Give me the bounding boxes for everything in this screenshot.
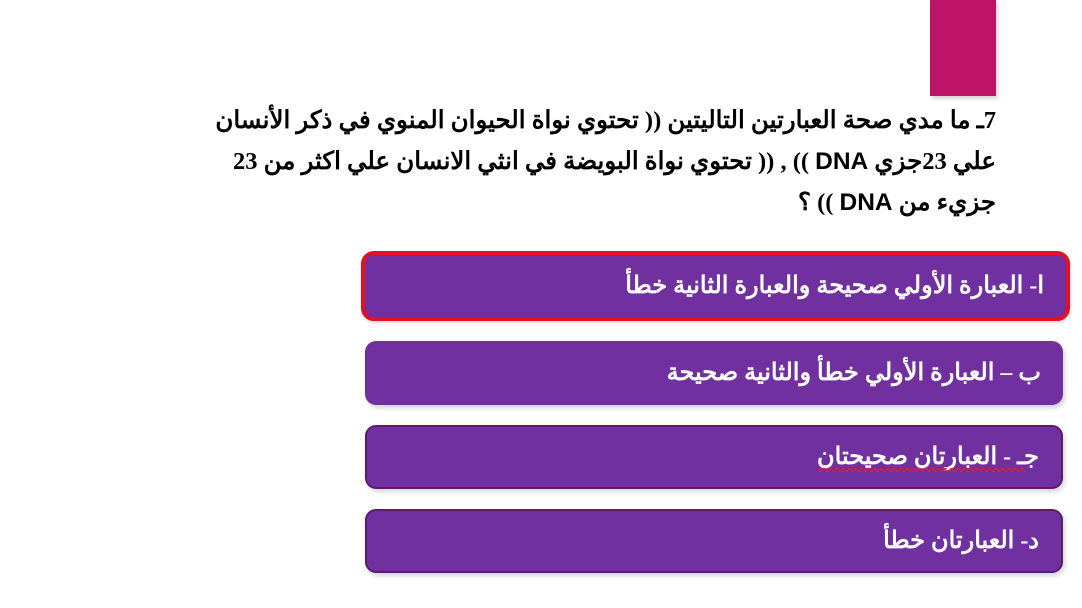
answer-option-b-label: ب – العبارة الأولي خطأ والثانية صحيحة <box>667 360 1041 386</box>
magenta-accent-block <box>930 0 996 96</box>
question-line-3-leading: جزيء من <box>899 189 996 216</box>
question-line-1: 7ـ ما مدي صحة العبارتين التاليتين (( تحت… <box>215 107 996 134</box>
answer-option-c-label: جـ - العبارتان صحيحتان <box>817 444 1039 470</box>
answer-option-d[interactable]: د- العبارتان خطأ <box>365 509 1063 573</box>
question-line-2-leading: علي 23جزي <box>874 148 996 175</box>
question-line-3-dna-token: DNA <box>840 189 893 216</box>
answer-options-list: ا- العبارة الأولي صحيحة والعبارة الثانية… <box>12 251 1070 593</box>
answer-option-c[interactable]: جـ - العبارتان صحيحتان <box>365 425 1063 489</box>
answer-option-a-label: ا- العبارة الأولي صحيحة والعبارة الثانية… <box>625 273 1044 299</box>
answer-option-b[interactable]: ب – العبارة الأولي خطأ والثانية صحيحة <box>365 341 1063 405</box>
answer-option-a[interactable]: ا- العبارة الأولي صحيحة والعبارة الثانية… <box>361 251 1070 321</box>
question-line-3-trailing: )) ؟ <box>798 189 833 216</box>
question-line-2-trailing: )) , (( تحتوي نواة البويضة في انثي الانس… <box>233 148 809 175</box>
answer-option-d-label: د- العبارتان خطأ <box>883 528 1039 554</box>
quiz-slide: 7ـ ما مدي صحة العبارتين التاليتين (( تحت… <box>0 0 1082 608</box>
question-text: 7ـ ما مدي صحة العبارتين التاليتين (( تحت… <box>1 100 996 223</box>
question-line-2-dna-token: DNA <box>815 148 868 175</box>
